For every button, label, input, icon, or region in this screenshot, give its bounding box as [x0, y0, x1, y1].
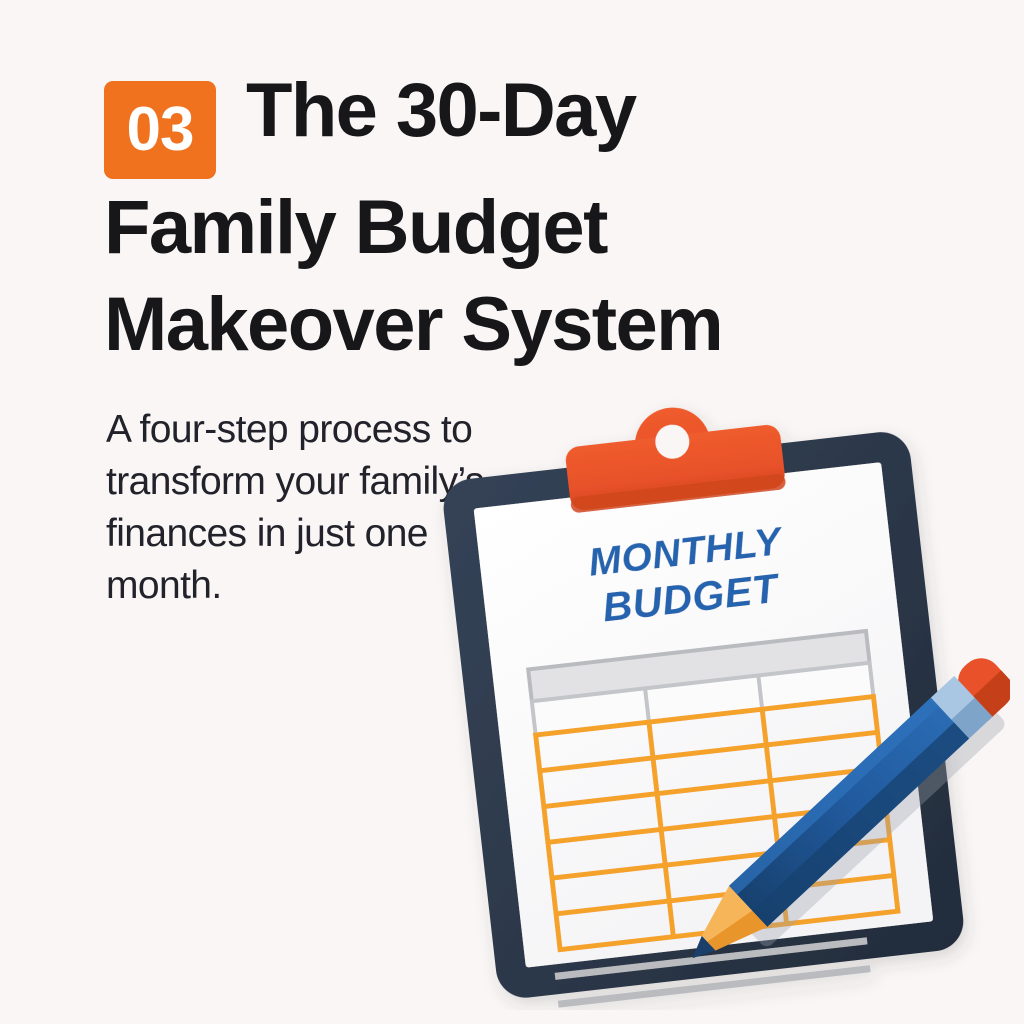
page-title: 03The 30-Day Family Budget Makeover Syst…	[104, 62, 844, 373]
clipboard-illustration: MONTHLY BUDGET	[430, 390, 1010, 1010]
step-number-badge: 03	[104, 81, 216, 179]
headline-block: 03The 30-Day Family Budget Makeover Syst…	[104, 62, 864, 373]
slide-canvas: 03The 30-Day Family Budget Makeover Syst…	[0, 0, 1024, 1024]
clipboard-body: MONTHLY BUDGET	[435, 390, 968, 1010]
